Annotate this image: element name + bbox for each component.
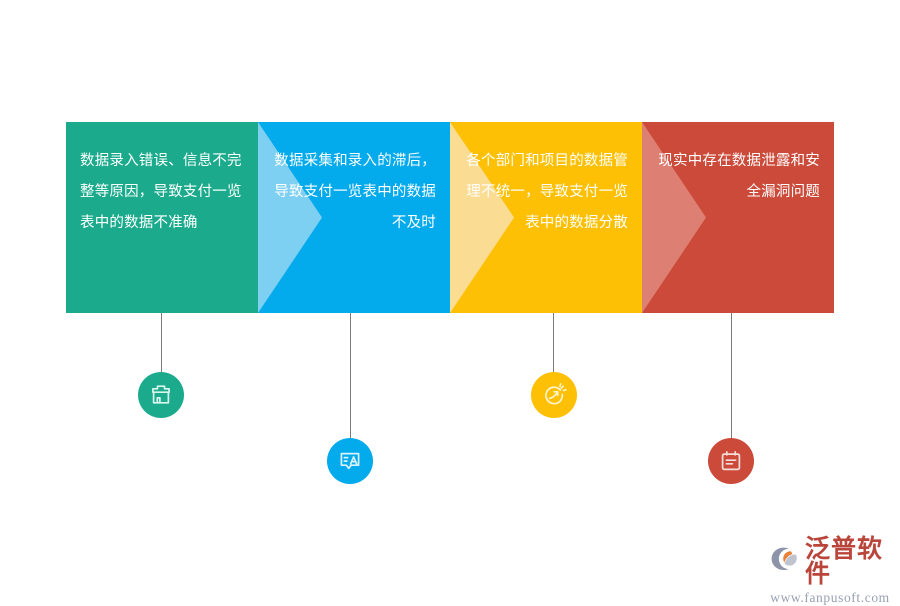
translate-bubble-icon [337, 448, 363, 474]
panel-collection-lag[interactable]: 数据采集和录入的滞后，导致支付一览表中的数据不及时 [258, 122, 450, 313]
fanpu-logo-mark-icon [770, 546, 800, 576]
icon-badge-shop[interactable] [138, 372, 184, 418]
growth-arrow-icon [541, 382, 568, 409]
brand-logo[interactable]: 泛普软件 www.fanpusoft.com [770, 536, 890, 588]
connector-stem-4 [731, 313, 732, 441]
shop-icon [148, 382, 174, 408]
panel-4-text: 现实中存在数据泄露和安全漏洞问题 [642, 146, 834, 208]
infographic-canvas: 数据录入错误、信息不完整等原因，导致支付一览表中的数据不准确 数据采集和录入的滞… [0, 0, 900, 600]
panel-2-text: 数据采集和录入的滞后，导致支付一览表中的数据不及时 [258, 146, 450, 239]
panel-scattered-management[interactable]: 各个部门和项目的数据管理不统一，导致支付一览表中的数据分散 [450, 122, 642, 313]
connector-stem-1 [161, 313, 162, 375]
panel-3-text: 各个部门和项目的数据管理不统一，导致支付一览表中的数据分散 [450, 146, 642, 239]
logo-company-name: 泛普软件 [805, 536, 890, 586]
icon-badge-note[interactable] [708, 438, 754, 484]
icon-badge-translate[interactable] [327, 438, 373, 484]
icon-badge-growth[interactable] [531, 372, 577, 418]
logo-website-url: www.fanpusoft.com [770, 590, 890, 606]
connector-stem-2 [350, 313, 351, 441]
connector-stem-3 [553, 313, 554, 375]
note-calendar-icon [718, 448, 744, 474]
panel-data-entry-error[interactable]: 数据录入错误、信息不完整等原因，导致支付一览表中的数据不准确 [66, 122, 258, 313]
panel-security-risk[interactable]: 现实中存在数据泄露和安全漏洞问题 [642, 122, 834, 313]
logo-row: 泛普软件 [770, 536, 890, 586]
panel-1-text: 数据录入错误、信息不完整等原因，导致支付一览表中的数据不准确 [66, 146, 258, 239]
panel-band: 数据录入错误、信息不完整等原因，导致支付一览表中的数据不准确 数据采集和录入的滞… [66, 122, 834, 313]
